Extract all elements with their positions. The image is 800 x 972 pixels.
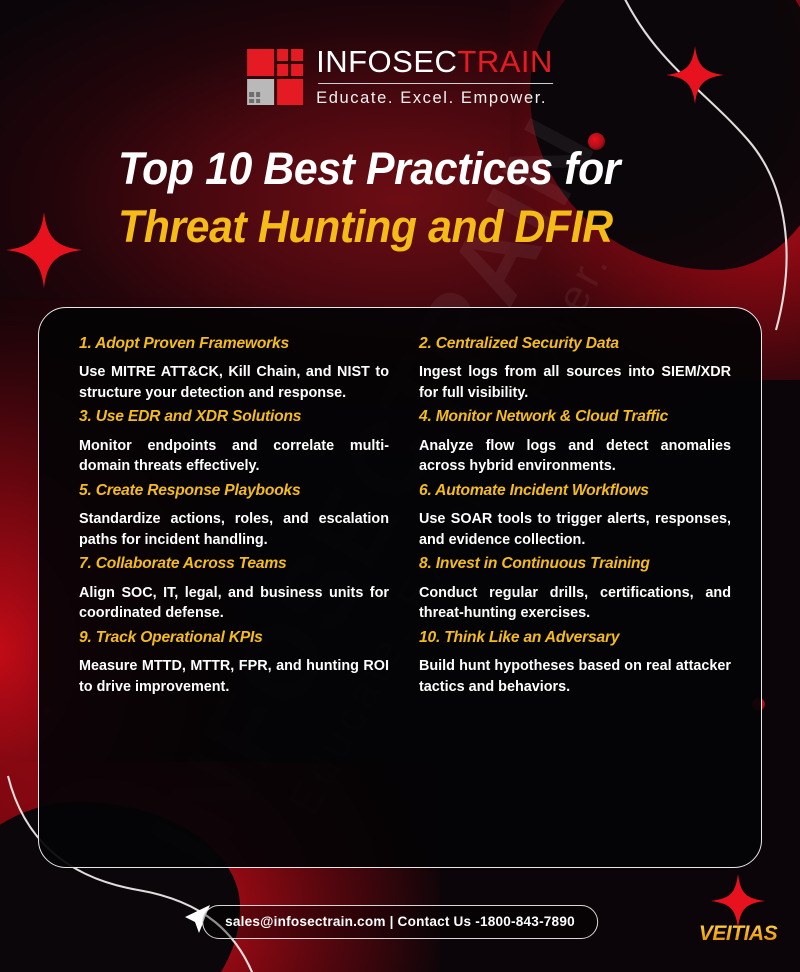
tip-heading: 3. Use EDR and XDR Solutions: [79, 407, 389, 426]
contact-info-text: sales@infosectrain.com | Contact Us -180…: [225, 914, 575, 929]
tip-item-8: 8. Invest in Continuous Training Conduct…: [419, 554, 731, 627]
tip-heading: 6. Automate Incident Workflows: [419, 481, 731, 500]
tip-item-9: 9. Track Operational KPIs Measure MTTD, …: [79, 628, 389, 701]
tip-heading: 1. Adopt Proven Frameworks: [79, 334, 389, 353]
contact-info-badge[interactable]: sales@infosectrain.com | Contact Us -180…: [202, 905, 598, 939]
tip-body: Use MITRE ATT&CK, Kill Chain, and NIST t…: [79, 362, 389, 403]
brand-wordmark-part2: TRAIN: [457, 44, 553, 79]
brand-wordmark-part1: INFOSEC: [316, 44, 457, 79]
brand-logo-text: INFOSECTRAIN Educate. Excel. Empower.: [316, 46, 553, 108]
tips-panel: 1. Adopt Proven Frameworks Use MITRE ATT…: [38, 307, 762, 868]
tip-item-6: 6. Automate Incident Workflows Use SOAR …: [419, 481, 731, 554]
tip-heading: 8. Invest in Continuous Training: [419, 554, 731, 573]
tip-item-4: 4. Monitor Network & Cloud Traffic Analy…: [419, 407, 731, 480]
tip-item-7: 7. Collaborate Across Teams Align SOC, I…: [79, 554, 389, 627]
tip-body: Conduct regular drills, certifications, …: [419, 583, 731, 624]
tip-item-1: 1. Adopt Proven Frameworks Use MITRE ATT…: [79, 334, 389, 407]
tip-body: Monitor endpoints and correlate multi-do…: [79, 436, 389, 477]
tips-grid: 1. Adopt Proven Frameworks Use MITRE ATT…: [79, 334, 731, 701]
infographic-poster: INFOSECTRAIN Educate. Excel. Empower. IN…: [0, 0, 800, 972]
page-title-line-2: Threat Hunting and DFIR: [118, 198, 688, 256]
page-title: Top 10 Best Practices for Threat Hunting…: [118, 140, 718, 255]
brand-wordmark: INFOSECTRAIN: [316, 46, 553, 77]
tip-heading: 2. Centralized Security Data: [419, 334, 731, 353]
tip-body: Align SOC, IT, legal, and business units…: [79, 583, 389, 624]
brand-tagline: Educate. Excel. Empower.: [316, 89, 553, 108]
tip-item-2: 2. Centralized Security Data Ingest logs…: [419, 334, 731, 407]
tip-heading: 9. Track Operational KPIs: [79, 628, 389, 647]
tip-heading: 4. Monitor Network & Cloud Traffic: [419, 407, 731, 426]
partner-logo: VEITIAS: [690, 874, 786, 946]
veitias-star-icon: [711, 874, 765, 928]
brand-logo: INFOSECTRAIN Educate. Excel. Empower.: [247, 46, 553, 108]
veitias-wordmark: VEITIAS: [690, 922, 786, 946]
tip-body: Measure MTTD, MTTR, FPR, and hunting ROI…: [79, 656, 389, 697]
tip-heading: 7. Collaborate Across Teams: [79, 554, 389, 573]
infosectrain-logo-mark-icon: [247, 49, 303, 105]
tip-item-5: 5. Create Response Playbooks Standardize…: [79, 481, 389, 554]
tip-item-3: 3. Use EDR and XDR Solutions Monitor end…: [79, 407, 389, 480]
tip-heading: 10. Think Like an Adversary: [419, 628, 731, 647]
tip-body: Standardize actions, roles, and escalati…: [79, 509, 389, 550]
poster-header: INFOSECTRAIN Educate. Excel. Empower. To…: [0, 0, 800, 292]
tip-body: Use SOAR tools to trigger alerts, respon…: [419, 509, 731, 550]
brand-divider: [318, 83, 553, 84]
tip-body: Ingest logs from all sources into SIEM/X…: [419, 362, 731, 403]
tip-body: Build hunt hypotheses based on real atta…: [419, 656, 731, 697]
tip-heading: 5. Create Response Playbooks: [79, 481, 389, 500]
tip-item-10: 10. Think Like an Adversary Build hunt h…: [419, 628, 731, 701]
tip-body: Analyze flow logs and detect anomalies a…: [419, 436, 731, 477]
page-title-line-1: Top 10 Best Practices for: [118, 140, 688, 198]
